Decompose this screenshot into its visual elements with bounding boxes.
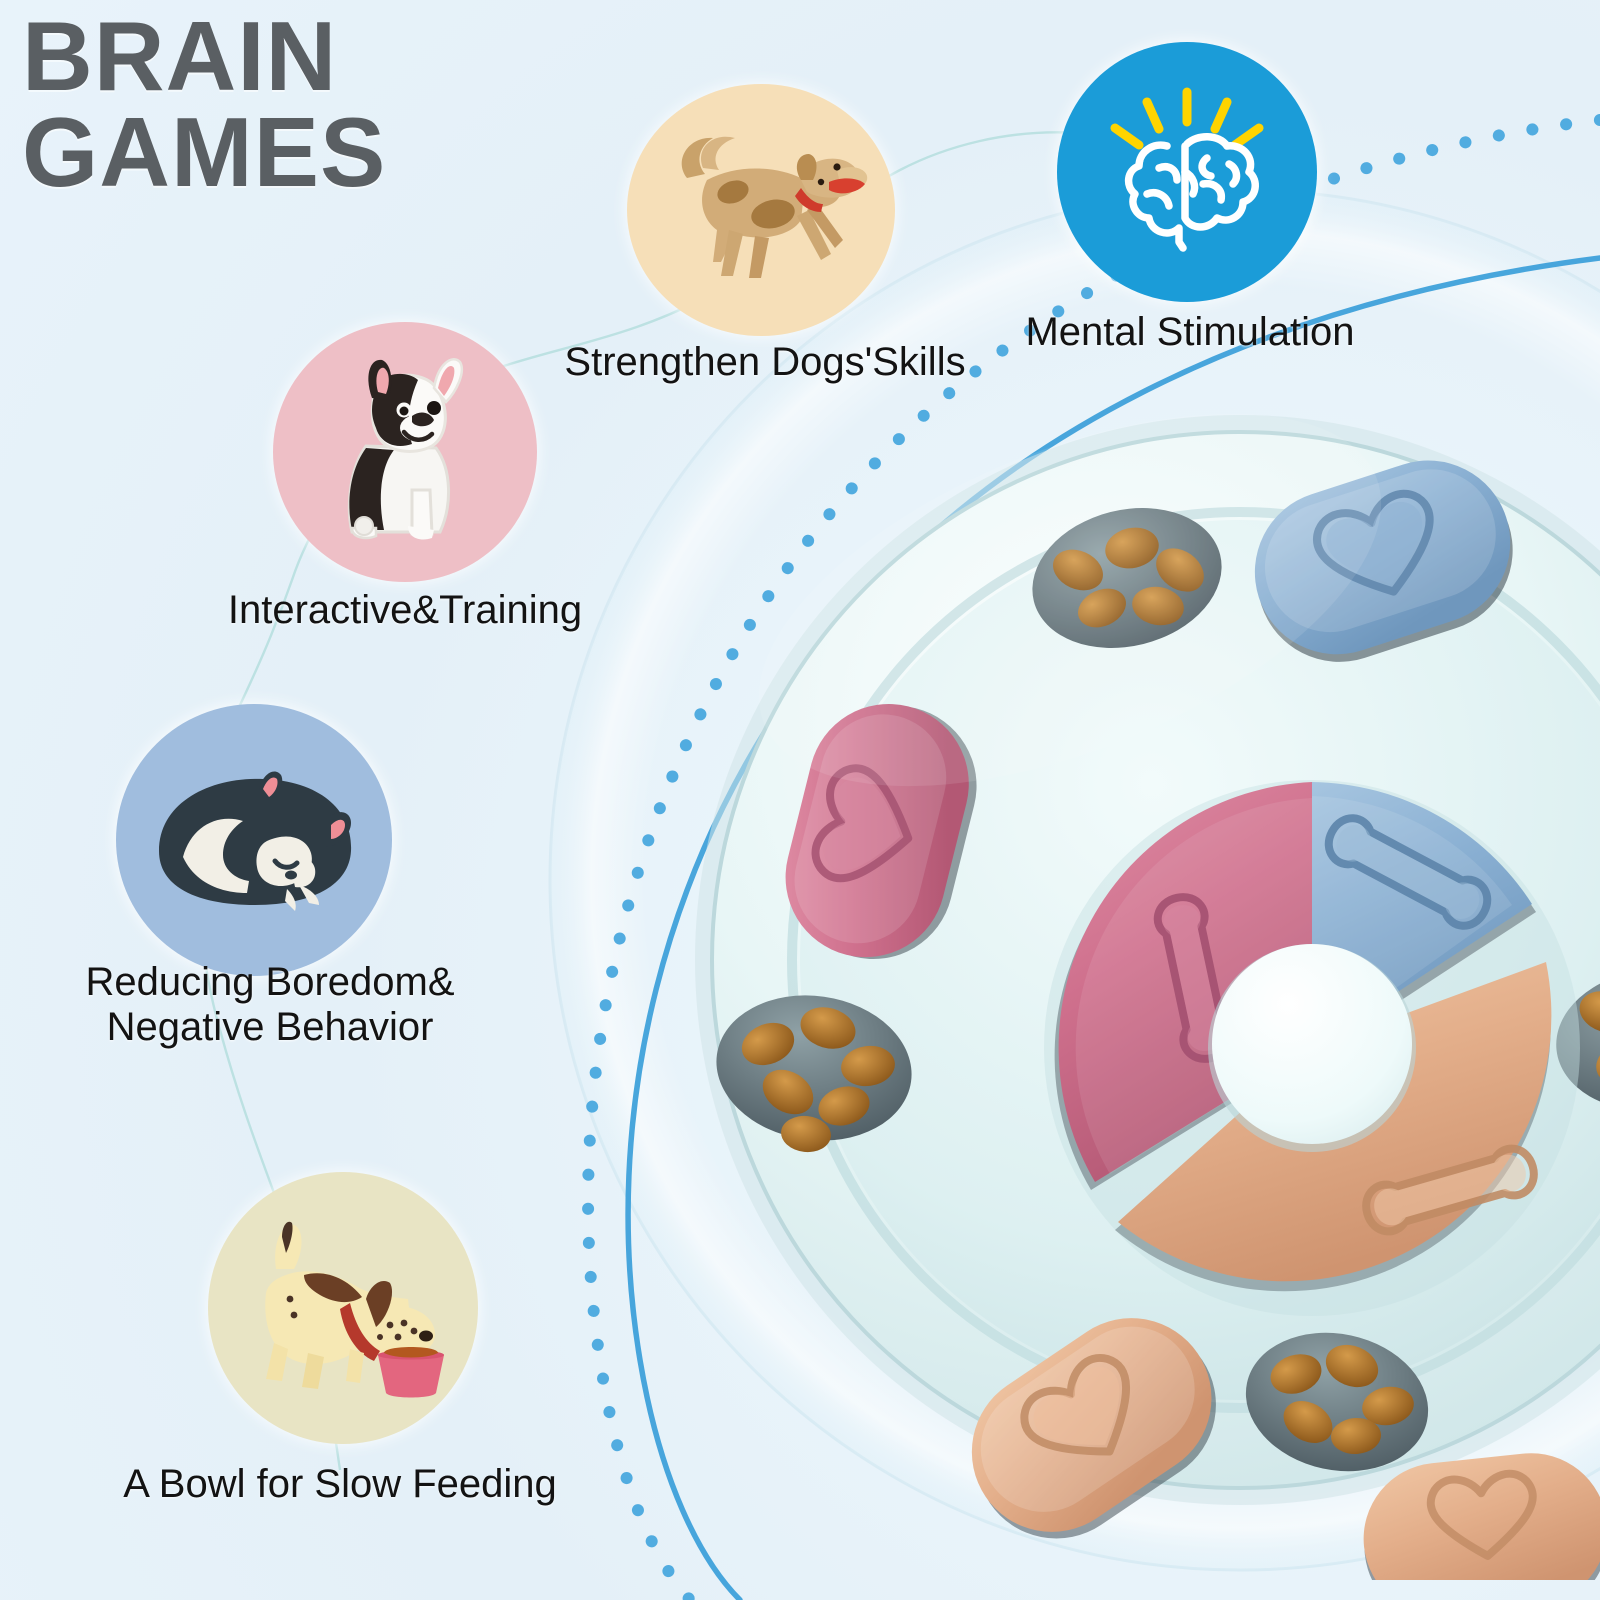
sleeping-cat-icon: [139, 755, 369, 925]
feature-bubble-reducing-boredom[interactable]: [116, 704, 392, 976]
playful-dog-icon: [651, 110, 871, 310]
feature-bubble-slow-feeding[interactable]: [208, 1172, 478, 1444]
feature-label-interactive-training: Interactive&Training: [185, 588, 625, 633]
brain-icon: [1087, 72, 1287, 272]
center-knob[interactable]: [1208, 944, 1416, 1152]
dog-puzzle-feeder-toy[interactable]: [640, 400, 1600, 1580]
feature-bubble-strengthen-skills[interactable]: [627, 84, 895, 336]
page-title: BRAIN GAMES: [22, 8, 386, 200]
feature-bubble-interactive-training[interactable]: [273, 322, 537, 582]
feature-bubble-mental-stimulation[interactable]: [1057, 42, 1317, 302]
dog-eating-bowl-icon: [230, 1203, 456, 1413]
brain-games-infographic: BRAIN GAMES: [0, 0, 1600, 1600]
sitting-bulldog-icon: [308, 350, 503, 555]
feature-label-strengthen-skills: Strengthen Dogs'Skills: [545, 340, 985, 385]
feature-label-mental-stimulation: Mental Stimulation: [960, 310, 1420, 355]
feature-label-slow-feeding: A Bowl for Slow Feeding: [100, 1462, 580, 1507]
inner-wedge-ring: [1044, 780, 1580, 1316]
feature-label-reducing-boredom: Reducing Boredom& Negative Behavior: [40, 960, 500, 1050]
